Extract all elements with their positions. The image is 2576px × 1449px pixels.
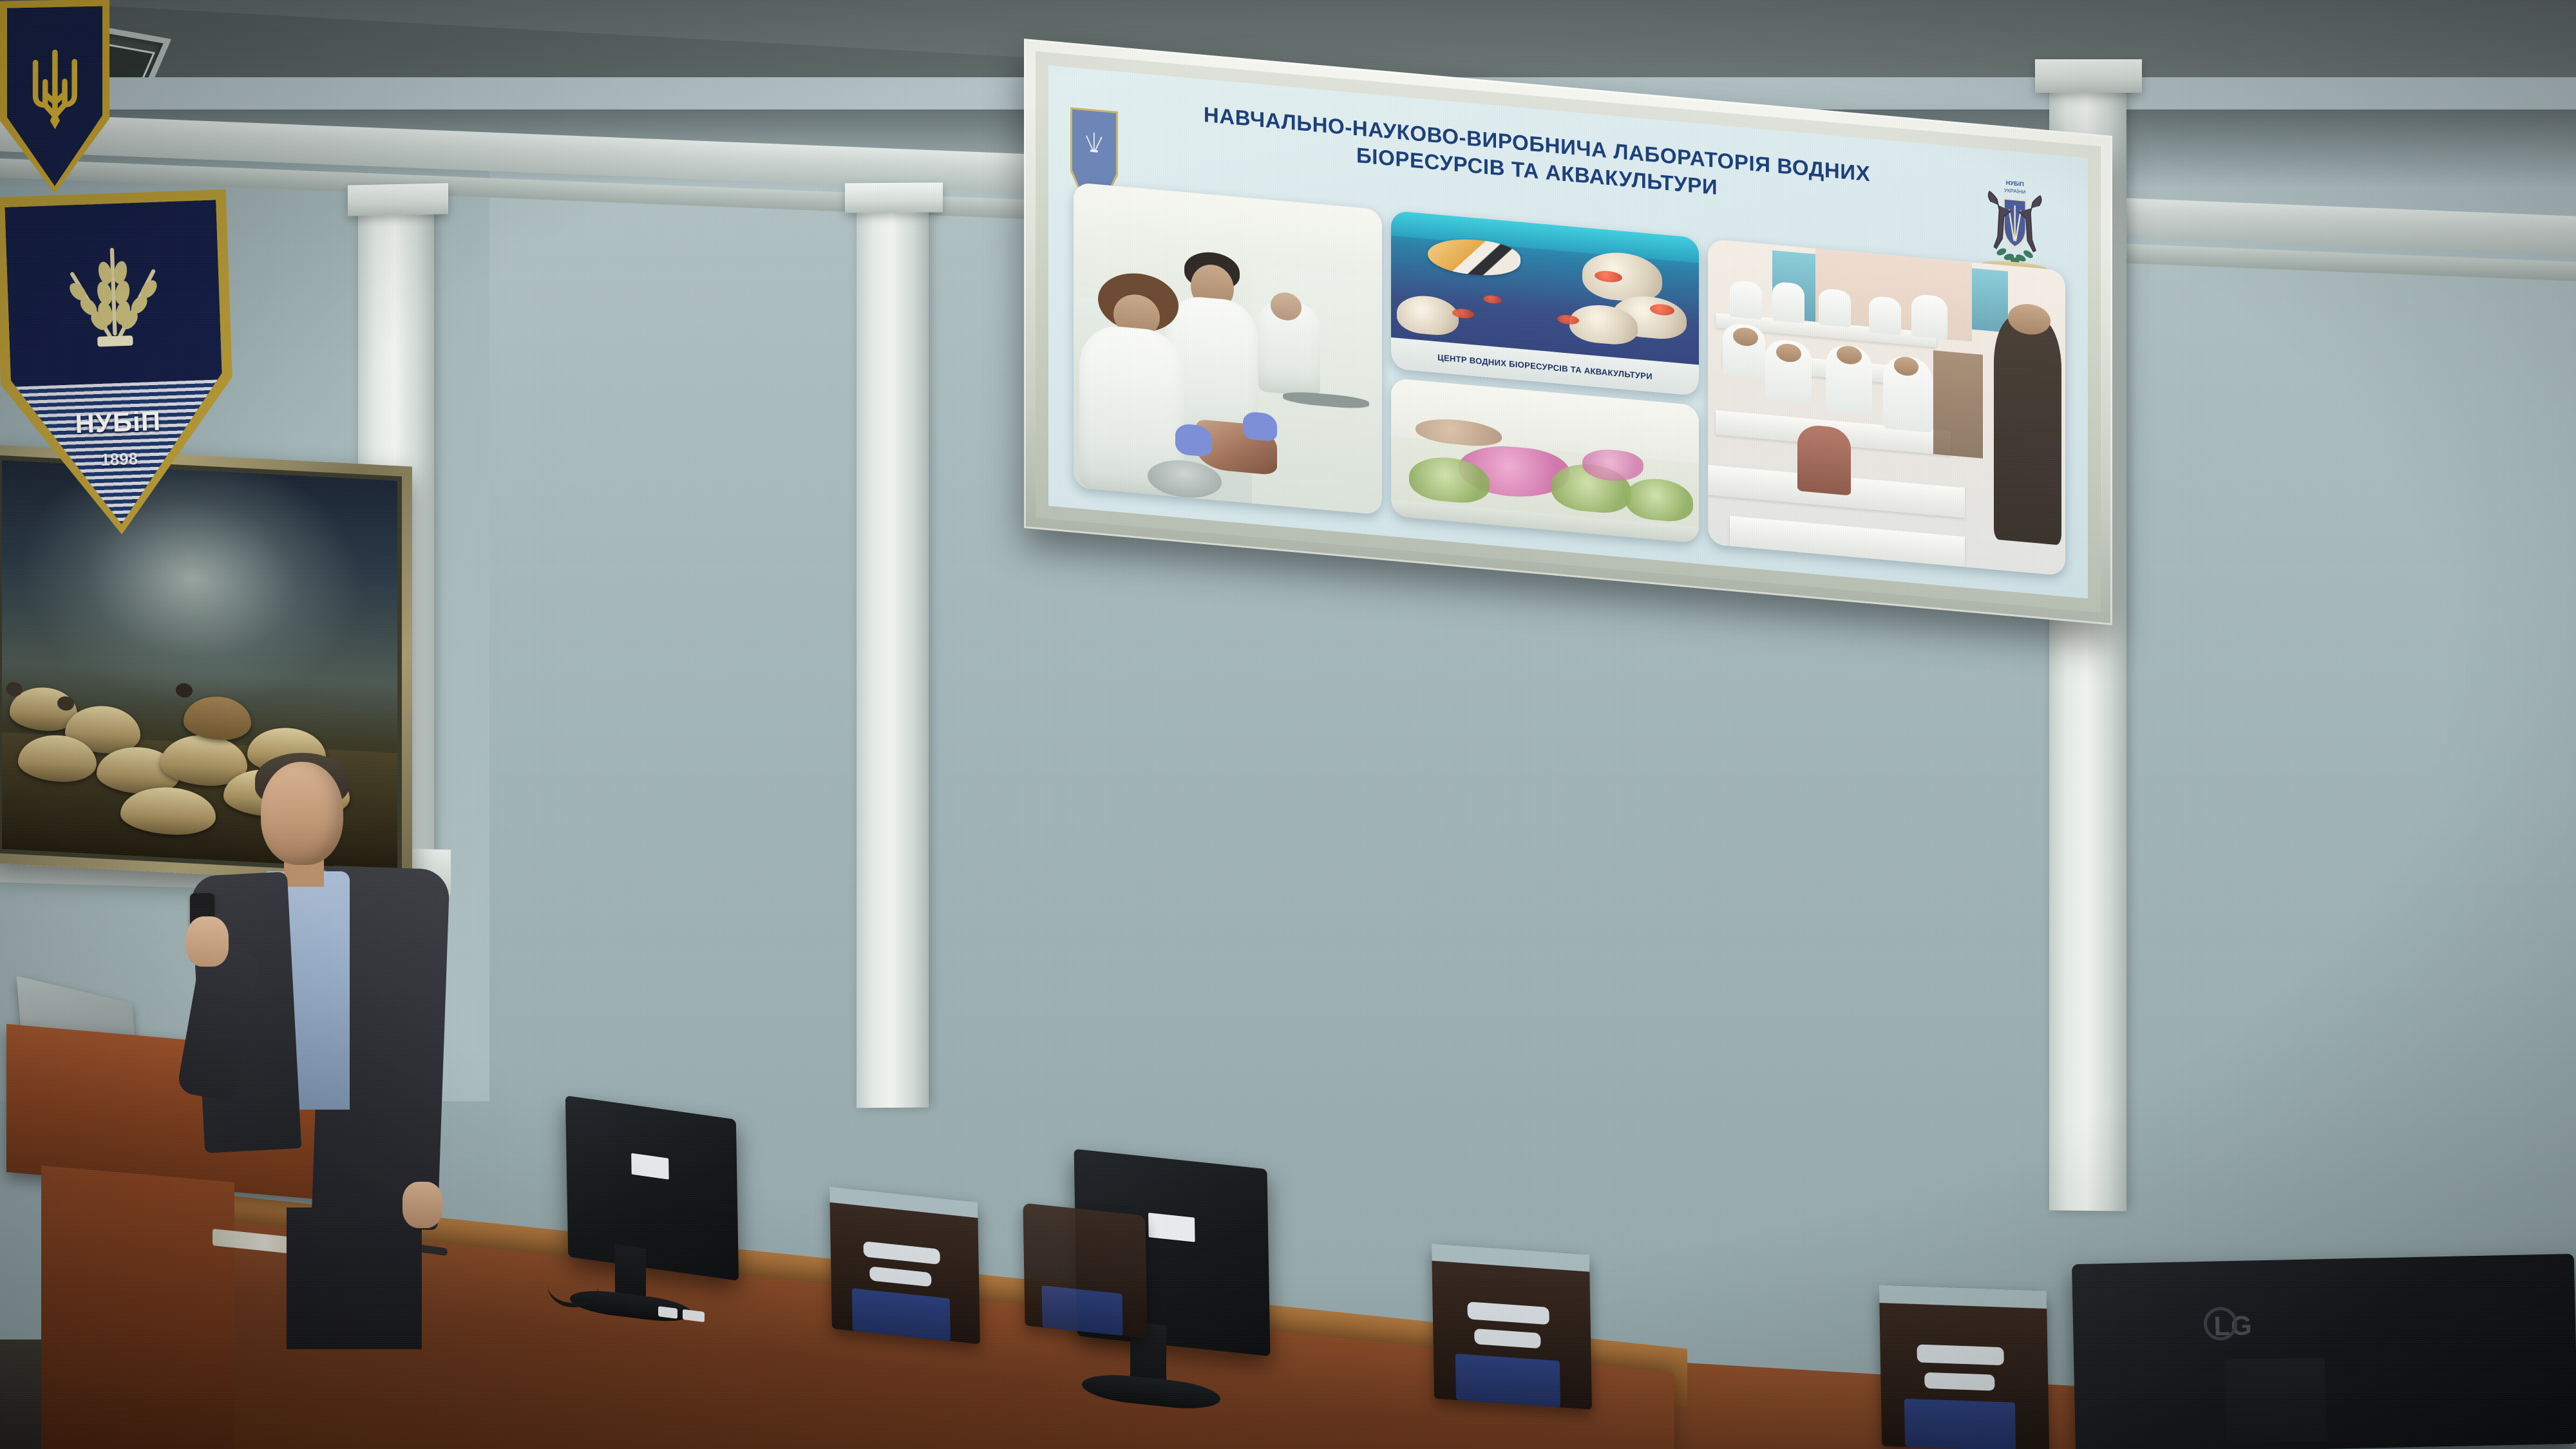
pilaster-right-capital bbox=[2035, 59, 2142, 93]
monitor-3-lg[interactable]: LG bbox=[2072, 1254, 2576, 1449]
photo-aquarium-plants bbox=[1391, 378, 1700, 544]
screen-frame: НУБіП НАВЧАЛЬНО-НАУКОВО-ВИРОБНИЧА ЛАБОРА… bbox=[1024, 39, 2112, 625]
pilaster-center-capital bbox=[845, 182, 943, 213]
lecture-hall-scene: НУБіП 1898 НУБіП bbox=[0, 0, 2576, 1449]
svg-text:НУБіП: НУБіП bbox=[2006, 180, 2025, 188]
speaker-right-hand bbox=[402, 1182, 442, 1228]
monitor-3-vesa-mount bbox=[2224, 1358, 2327, 1443]
monitor-1[interactable] bbox=[565, 1095, 739, 1281]
pilaster-center bbox=[857, 193, 929, 1108]
speaker-head bbox=[261, 762, 343, 865]
slide-wheat-icon bbox=[1080, 117, 1108, 172]
speaker-left-hand bbox=[186, 916, 229, 967]
chair-3-notch-upper bbox=[1917, 1344, 2005, 1365]
svg-text:УКРАЇНИ: УКРАЇНИ bbox=[2004, 187, 2026, 195]
monitor-1-label bbox=[631, 1153, 669, 1179]
chair-4-cushion bbox=[1041, 1285, 1122, 1336]
lg-logo-icon bbox=[2203, 1307, 2237, 1341]
wheat-ears-icon bbox=[35, 214, 193, 405]
photo-classroom bbox=[1708, 239, 2065, 576]
photo-aquarium: ЦЕНТР ВОДНИХ БІОРЕСУРСІВ ТА АКВАКУЛЬТУРИ bbox=[1391, 211, 1700, 397]
pilaster-left-capital bbox=[348, 183, 448, 216]
monitor-2-label bbox=[1148, 1213, 1195, 1242]
chair-3-notch-lower bbox=[1924, 1372, 1995, 1390]
speaker-at-podium bbox=[164, 757, 486, 1291]
projected-slide: НУБіП НАВЧАЛЬНО-НАУКОВО-ВИРОБНИЧА ЛАБОРА… bbox=[1048, 65, 2088, 598]
chair-1[interactable] bbox=[829, 1187, 980, 1345]
speaker-legs bbox=[287, 1207, 422, 1349]
chair-2-cushion bbox=[1455, 1354, 1560, 1407]
chair-4[interactable] bbox=[1023, 1203, 1147, 1338]
chair-2[interactable] bbox=[1432, 1244, 1592, 1409]
chair-3-cushion bbox=[1904, 1399, 2016, 1449]
chair-3[interactable] bbox=[1879, 1285, 2049, 1449]
projection-screen-assembly: НУБіП НАВЧАЛЬНО-НАУКОВО-ВИРОБНИЧА ЛАБОРА… bbox=[1024, 39, 2112, 625]
tryzub-icon bbox=[24, 24, 86, 155]
photo-lab-dissection bbox=[1074, 182, 1382, 515]
monitor-1-cable bbox=[547, 1262, 599, 1307]
